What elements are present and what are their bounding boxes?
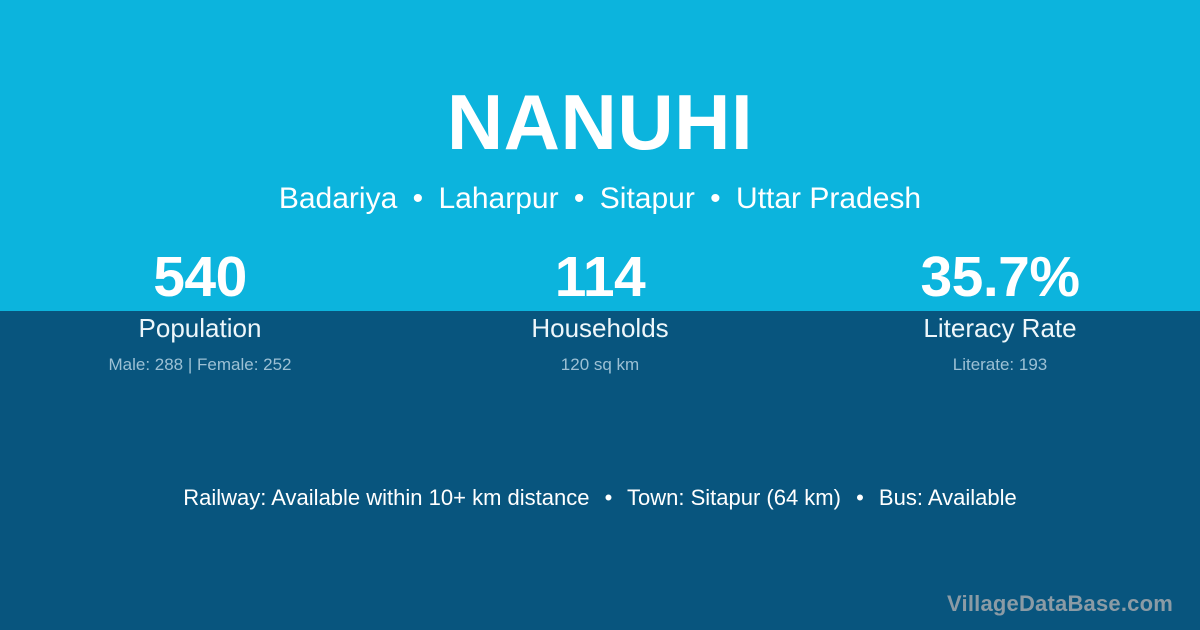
amenity-bus: Bus: Available xyxy=(879,485,1017,510)
breadcrumb-item-district: Sitapur xyxy=(600,182,695,215)
stat-population: 540 Population Male: 288 | Female: 252 xyxy=(0,246,400,375)
breadcrumb-separator: • xyxy=(567,182,592,215)
village-info-card: NANUHI Badariya • Laharpur • Sitapur • U… xyxy=(0,0,1200,630)
stat-label: Population xyxy=(0,313,400,344)
breadcrumb-separator: • xyxy=(703,182,728,215)
page-title: NANUHI xyxy=(0,83,1200,161)
stat-sublabel: Male: 288 | Female: 252 xyxy=(0,355,400,375)
stat-value: 114 xyxy=(400,246,800,310)
breadcrumb-separator: • xyxy=(406,182,431,215)
stat-literacy-rate: 35.7% Literacy Rate Literate: 193 xyxy=(800,246,1200,375)
stat-sublabel: Literate: 193 xyxy=(800,355,1200,375)
amenity-town: Town: Sitapur (64 km) xyxy=(627,485,841,510)
card-content: NANUHI Badariya • Laharpur • Sitapur • U… xyxy=(0,0,1200,630)
stat-label: Literacy Rate xyxy=(800,313,1200,344)
stats-row: 540 Population Male: 288 | Female: 252 1… xyxy=(0,246,1200,375)
stat-households: 114 Households 120 sq km xyxy=(400,246,800,375)
amenity-railway: Railway: Available within 10+ km distanc… xyxy=(183,485,589,510)
stat-value: 540 xyxy=(0,246,400,310)
stat-sublabel: 120 sq km xyxy=(400,355,800,375)
stat-label: Households xyxy=(400,313,800,344)
breadcrumb-item-block: Badariya xyxy=(279,182,397,215)
site-watermark: VillageDataBase.com xyxy=(947,591,1173,617)
amenities-line: Railway: Available within 10+ km distanc… xyxy=(0,484,1200,513)
amenity-separator: • xyxy=(847,485,873,510)
breadcrumb-item-state: Uttar Pradesh xyxy=(736,182,921,215)
breadcrumb-item-tehsil: Laharpur xyxy=(438,182,558,215)
stat-value: 35.7% xyxy=(800,246,1200,310)
breadcrumb: Badariya • Laharpur • Sitapur • Uttar Pr… xyxy=(0,181,1200,217)
amenity-separator: • xyxy=(596,485,622,510)
